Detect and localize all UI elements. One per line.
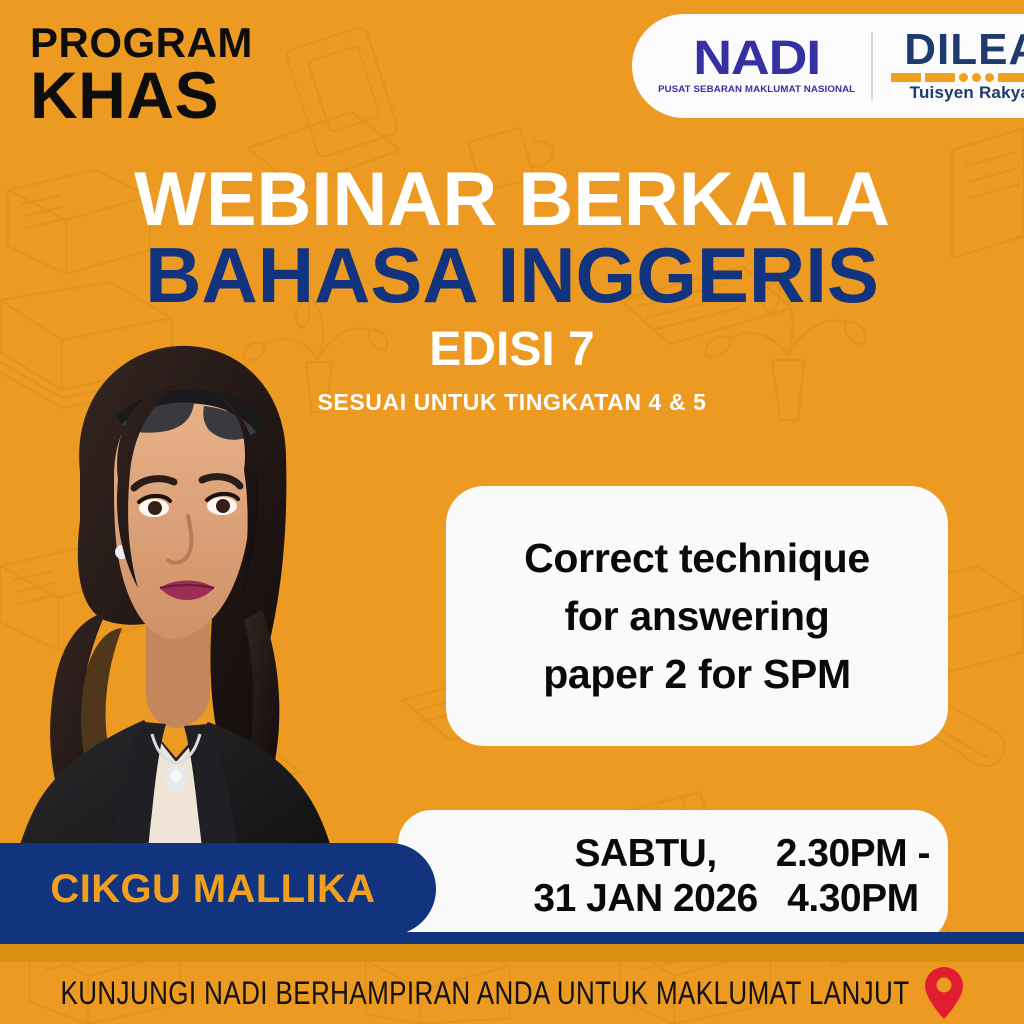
- headline-line2: BAHASA INGGERIS: [0, 236, 1024, 316]
- presenter-name-banner: CIKGU MALLIKA: [0, 843, 436, 935]
- amber-divider-strip: [0, 944, 1024, 962]
- footer-bar: KUNJUNGI NADI BERHAMPIRAN ANDA UNTUK MAK…: [0, 962, 1024, 1024]
- presenter-name: CIKGU MALLIKA: [50, 867, 375, 912]
- topic-line-2: for answering: [565, 587, 830, 645]
- program-label-line2: KHAS: [30, 65, 253, 126]
- program-label-line1: PROGRAM: [30, 24, 253, 63]
- dilea-dash-accent: [891, 73, 1024, 82]
- schedule-date: 31 JAN 2026: [533, 876, 757, 921]
- dilea-logo: DILEA Tuisyen Rakyat: [891, 29, 1024, 104]
- headline-block: WEBINAR BERKALA BAHASA INGGERIS EDISI 7 …: [0, 162, 1024, 416]
- schedule-card: SABTU, 31 JAN 2026 2.30PM - 4.30PM: [398, 810, 948, 942]
- nadi-wordmark: NADI: [693, 37, 820, 81]
- edition-label: EDISI 7: [0, 322, 1024, 377]
- schedule-time-end: 4.30PM: [776, 876, 930, 921]
- logo-pill: NADI PUSAT SEBARAN MAKLUMAT NASIONAL DIL…: [632, 14, 1024, 118]
- footer-text: KUNJUNGI NADI BERHAMPIRAN ANDA UNTUK MAK…: [60, 974, 909, 1013]
- webinar-promo-poster: PROGRAM KHAS NADI PUSAT SEBARAN MAKLUMAT…: [0, 0, 1024, 1024]
- date-column: SABTU, 31 JAN 2026: [533, 831, 757, 921]
- topic-card: Correct technique for answering paper 2 …: [446, 486, 948, 746]
- topic-line-1: Correct technique: [524, 529, 870, 587]
- headline-line1: WEBINAR BERKALA: [0, 162, 1024, 238]
- logo-divider: [871, 32, 873, 100]
- topic-line-3: paper 2 for SPM: [543, 645, 851, 703]
- nadi-tagline: PUSAT SEBARAN MAKLUMAT NASIONAL: [658, 84, 855, 95]
- time-column: 2.30PM - 4.30PM: [776, 831, 930, 921]
- schedule-day: SABTU,: [533, 831, 757, 876]
- location-pin-icon: [924, 966, 964, 1020]
- program-label: PROGRAM KHAS: [30, 24, 253, 125]
- dilea-tagline: Tuisyen Rakyat: [910, 83, 1024, 103]
- dilea-wordmark: DILEA: [904, 29, 1024, 71]
- audience-label: SESUAI UNTUK TINGKATAN 4 & 5: [0, 389, 1024, 416]
- nadi-logo: NADI PUSAT SEBARAN MAKLUMAT NASIONAL: [660, 37, 853, 94]
- schedule-time-start: 2.30PM -: [776, 831, 930, 876]
